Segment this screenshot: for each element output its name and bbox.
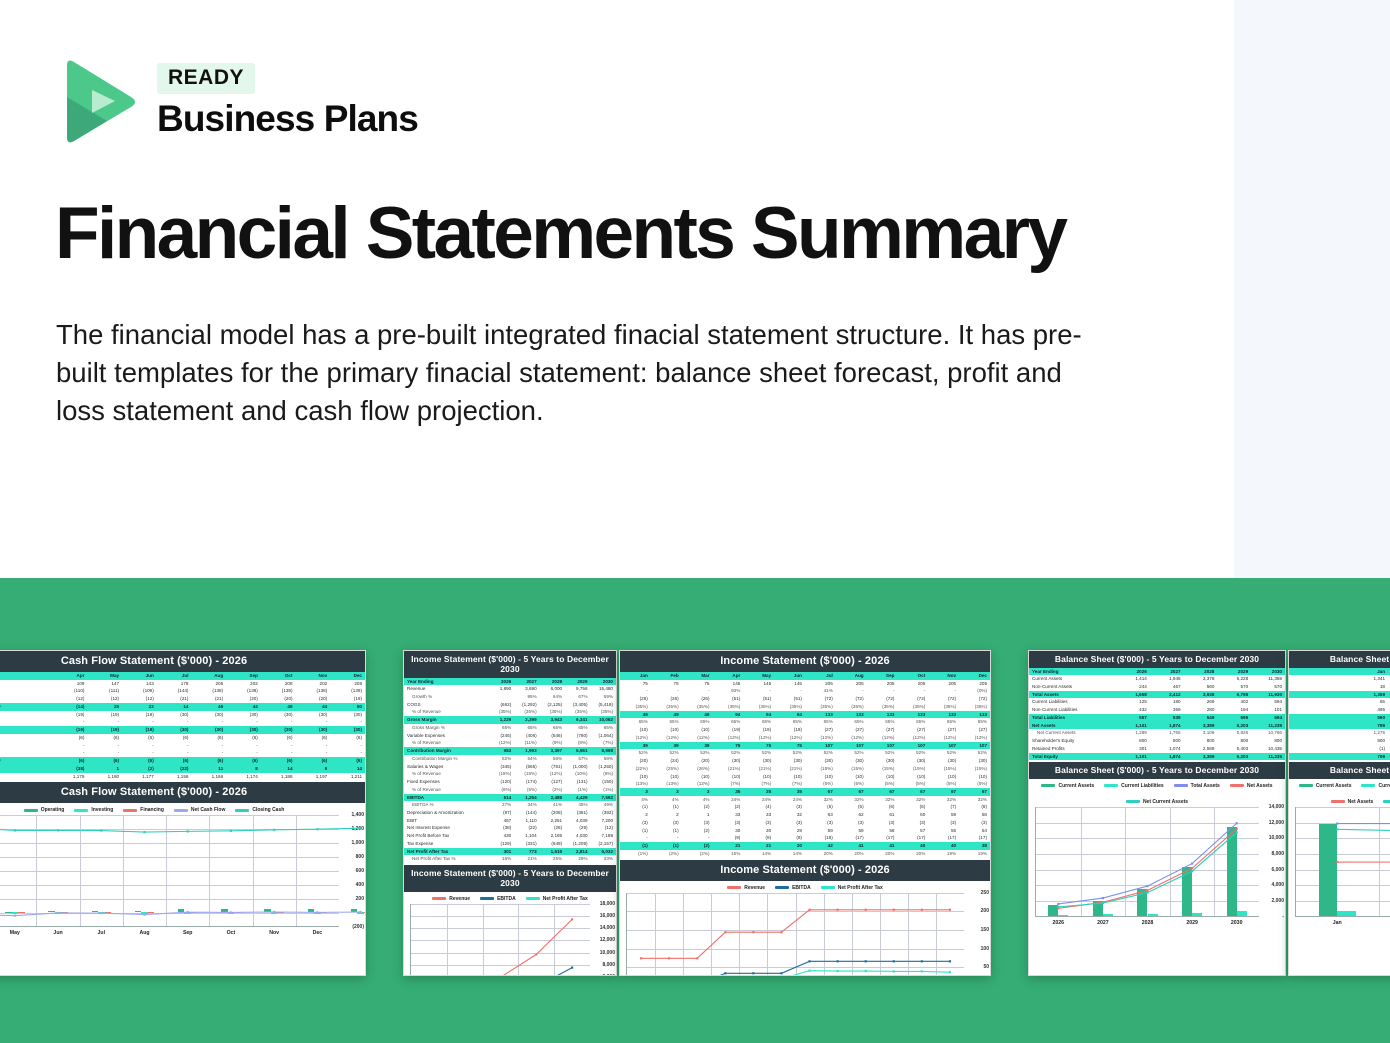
table-cell: - bbox=[330, 742, 365, 750]
table-row: (35%)(35%)(35%)(35%)(35%)(35%)(35%)(35%)… bbox=[620, 703, 990, 711]
table-cell: (3) bbox=[959, 819, 990, 827]
table-cell: 1 bbox=[87, 765, 122, 773]
row-label: Salaries & Wages bbox=[404, 763, 489, 771]
table-cell: 29% bbox=[565, 855, 590, 863]
row-label: Total Equity bbox=[1029, 753, 1116, 761]
table-cell: 44 bbox=[296, 703, 331, 711]
row-label: EBITDA % bbox=[404, 801, 489, 809]
table-cell: 32% bbox=[836, 796, 867, 804]
table-cell: (19) bbox=[743, 726, 774, 734]
col-header: Jun bbox=[122, 672, 157, 680]
legend-item: EBITDA bbox=[775, 885, 811, 891]
table-cell: 39 bbox=[620, 742, 651, 750]
col-header: 2029 bbox=[1217, 668, 1251, 676]
table-cell: (12%) bbox=[774, 734, 805, 742]
table-cell: (15%) bbox=[897, 765, 928, 773]
legend-swatch bbox=[1174, 784, 1188, 787]
row-label: Gross Margin bbox=[404, 716, 489, 724]
table-cell: (406) bbox=[514, 732, 539, 740]
table-cell: 1,179 bbox=[53, 773, 88, 781]
table-cell: 65% bbox=[774, 718, 805, 726]
table-cell: 402 bbox=[1217, 698, 1251, 706]
table-cell: 145 bbox=[743, 680, 774, 688]
table-cell: (127) bbox=[540, 778, 565, 786]
table-cell: (10) bbox=[805, 773, 836, 781]
table-cell: 7,592 bbox=[591, 794, 616, 802]
row-label: Variable Expenses bbox=[404, 732, 489, 740]
table-cell: - bbox=[296, 718, 331, 726]
table-cell: (27) bbox=[836, 726, 867, 734]
chart-series-lines bbox=[1296, 807, 1390, 917]
sheet-title-balance-5yr: Balance Sheet ($'000) - 5 Years to Decem… bbox=[1029, 651, 1285, 668]
table-cell: (20) bbox=[226, 695, 261, 703]
table-cell: 34% bbox=[514, 801, 539, 809]
row-label: EBIT bbox=[404, 817, 489, 825]
table-row: (1%)(2%)(2%)15%14%14%20%20%20%20%19%19% bbox=[620, 850, 990, 858]
table-cell: (35%) bbox=[591, 708, 616, 716]
screenshot-card-balance-5yr[interactable]: Balance Sheet ($'000) - 5 Years to Decem… bbox=[1028, 650, 1286, 976]
table-cell: 107 bbox=[928, 742, 959, 750]
table-cell: 21 bbox=[743, 842, 774, 850]
table-row: 6572 bbox=[1289, 698, 1390, 706]
table-cell: 4% bbox=[682, 796, 713, 804]
table-cell: 2,814 bbox=[565, 848, 590, 856]
table-cell: 205 bbox=[959, 680, 990, 688]
table-cell: (12%) bbox=[620, 734, 651, 742]
sheet-title-income-5yr: Income Statement ($'000) - 5 Years to De… bbox=[404, 651, 616, 678]
table-row: 560561 bbox=[1289, 714, 1390, 722]
table-cell: 27% bbox=[489, 801, 514, 809]
col-header-label: Year Ending bbox=[404, 678, 489, 686]
table-cell: 6,228 bbox=[1217, 675, 1251, 683]
table-cell: 3,389 bbox=[1184, 722, 1218, 730]
table-row: Interest & Tax Paid(12)(12)(12)(21)(21)(… bbox=[0, 695, 365, 703]
table-cell: (15%) bbox=[959, 765, 990, 773]
table-cell: 52% bbox=[743, 749, 774, 757]
table-cell: (12) bbox=[53, 695, 88, 703]
legend-item: Total Assets bbox=[1174, 783, 1220, 789]
table-cell: - bbox=[651, 834, 682, 842]
table-row: % of Revenue(35%)(35%)(35%)(35%)(35%) bbox=[404, 708, 616, 716]
table-cell: 9,756 bbox=[565, 685, 590, 693]
table-cell: (10) bbox=[620, 773, 651, 781]
table-cell: (10) bbox=[620, 726, 651, 734]
row-label: Net Financing Cash Flow bbox=[0, 757, 53, 765]
screenshot-card-cashflow[interactable]: Cash Flow Statement ($'000) - 2026 AprMa… bbox=[0, 650, 366, 976]
table-cell: 145 bbox=[774, 680, 805, 688]
row-label: Sale of Fixed Assets bbox=[0, 718, 53, 726]
table-cell: (35%) bbox=[836, 703, 867, 711]
row-label: Non-Current Liabilities bbox=[1029, 706, 1116, 714]
legend-swatch bbox=[1126, 800, 1140, 803]
table-cell: (35%) bbox=[565, 708, 590, 716]
table-cell: 21% bbox=[514, 855, 539, 863]
table-cell: (138) bbox=[226, 687, 261, 695]
table-row: % of Revenue(8%)(5%)(2%)(1%)(1%) bbox=[404, 786, 616, 794]
table-cell: (3,405) bbox=[565, 701, 590, 709]
row-label: Revenue bbox=[404, 685, 489, 693]
table-cell: (7%) bbox=[774, 780, 805, 788]
legend-item: Current Assets bbox=[1041, 783, 1094, 789]
table-cell: 3,943 bbox=[540, 716, 565, 724]
legend-label: Net Profit After Tax bbox=[838, 885, 883, 891]
table-row: (3)(3)(3)(3)(3)(3)(3)(3)(3)(3)(3)(3) bbox=[620, 819, 990, 827]
row-label: Tax Expense bbox=[404, 840, 489, 848]
table-cell: (150) bbox=[591, 778, 616, 786]
row-label: Net Profit After Tax bbox=[404, 848, 489, 856]
table-cell: 6,000 bbox=[540, 685, 565, 693]
table-row: Retained Profits3011,0742,5895,40310,435 bbox=[1029, 745, 1285, 753]
y-axis-tick-label: 100 bbox=[981, 946, 989, 952]
chart-title-balance-2026: Balance Sheet ($'000) - 2026 bbox=[1289, 762, 1390, 779]
chart-legend: Current AssetsCurrent LiabilitiesTotal A… bbox=[1289, 779, 1390, 807]
table-cell: (30) bbox=[226, 711, 261, 719]
table-cell: (120) bbox=[489, 778, 514, 786]
table-cell: 109 bbox=[53, 680, 88, 688]
table-cell: - bbox=[928, 687, 959, 695]
table-cell: 67 bbox=[959, 788, 990, 796]
y-axis-tick-label: 2,000 bbox=[1271, 898, 1284, 904]
row-label: Closing Cash Balance bbox=[0, 773, 53, 781]
chart-title-income-5yr: Income Statement ($'000) - 5 Years to De… bbox=[404, 865, 616, 892]
legend-item: Current Liabilities bbox=[1361, 783, 1390, 789]
x-axis-tick-label: 2027 bbox=[1097, 920, 1109, 926]
row-label: % of Revenue bbox=[404, 770, 489, 778]
table-cell: 45% bbox=[565, 801, 590, 809]
table-cell: (649) bbox=[540, 840, 565, 848]
row-label: Current Liabilities bbox=[1029, 698, 1116, 706]
table-cell: 65% bbox=[928, 718, 959, 726]
screenshot-card-income-5yr[interactable]: Income Statement ($'000) - 5 Years to De… bbox=[403, 650, 617, 976]
table-cell: (4) bbox=[743, 803, 774, 811]
table-cell: (2) bbox=[712, 803, 743, 811]
row-label: Non-Current Assets bbox=[1029, 683, 1116, 691]
table-cell: 143 bbox=[122, 680, 157, 688]
table-cell: 16% bbox=[489, 855, 514, 863]
col-header: Sep bbox=[867, 672, 898, 680]
legend-label: Total Assets bbox=[1191, 783, 1220, 789]
table-cell: 65% bbox=[651, 718, 682, 726]
table-cell: 46 bbox=[191, 703, 226, 711]
table-cell: (30) bbox=[928, 757, 959, 765]
table-cell: 67 bbox=[836, 788, 867, 796]
table-cell: 514 bbox=[489, 794, 514, 802]
table-cell: 56% bbox=[540, 755, 565, 763]
legend-label: Current Liabilities bbox=[1378, 783, 1390, 789]
legend-label: Revenue bbox=[449, 896, 470, 902]
table-cell: 1,229 bbox=[489, 716, 514, 724]
table-cell: 40 bbox=[928, 842, 959, 850]
table-row: Shareholder's Equity800800800800800 bbox=[1029, 737, 1285, 745]
table-row: 799798 bbox=[1289, 722, 1390, 730]
x-axis-tick-label: Sep bbox=[183, 930, 193, 936]
table-cell: 65% bbox=[565, 724, 590, 732]
table-cell: (35%) bbox=[712, 703, 743, 711]
table-cell: (87) bbox=[489, 809, 514, 817]
legend-swatch bbox=[235, 809, 249, 812]
table-cell: 7,189 bbox=[591, 832, 616, 840]
table-cell: (392) bbox=[591, 809, 616, 817]
table-cell: 2 bbox=[651, 811, 682, 819]
x-axis-tick-label: Nov bbox=[269, 930, 279, 936]
table-cell: 800 bbox=[1150, 737, 1184, 745]
table-cell bbox=[489, 693, 514, 701]
table-cell: - bbox=[743, 687, 774, 695]
table-cell: - bbox=[330, 718, 365, 726]
table-cell: (10) bbox=[774, 773, 805, 781]
table-cell: 52% bbox=[774, 749, 805, 757]
table-cell: 32% bbox=[805, 796, 836, 804]
table-cell: (27) bbox=[959, 726, 990, 734]
table-cell: 205 bbox=[867, 680, 898, 688]
table-cell: 49 bbox=[682, 711, 713, 719]
table-cell: 14% bbox=[743, 850, 774, 858]
table-cell: (17) bbox=[928, 834, 959, 842]
table-cell: (21%) bbox=[743, 765, 774, 773]
legend-item: Net Current Assets bbox=[1126, 799, 1188, 805]
table-cell: (139) bbox=[330, 687, 365, 695]
table-row: Gross Margin %65%65%65%65%65% bbox=[404, 724, 616, 732]
col-header: 2029 bbox=[565, 678, 590, 686]
table-cell: (10) bbox=[682, 726, 713, 734]
x-axis-tick-label: May bbox=[10, 930, 20, 936]
table-row: Fixed Expenses(120)(174)(127)(131)(150) bbox=[404, 778, 616, 786]
row-label: Gross Margin % bbox=[404, 724, 489, 732]
table-cell: - bbox=[330, 749, 365, 757]
table-cell: - bbox=[157, 749, 192, 757]
table-cell: 1,104 bbox=[514, 832, 539, 840]
table-cell: (30) bbox=[836, 757, 867, 765]
table-cell: 202 bbox=[296, 680, 331, 688]
table-row: 757575145145145205205205205205205 bbox=[620, 680, 990, 688]
chart-legend: RevenueEBITDANet Profit After Tax bbox=[620, 881, 990, 893]
table-row: 65%65%65%65%65%65%65%65%65%65%65%65% bbox=[620, 718, 990, 726]
table-row: Receipts from Customers10914714317820520… bbox=[0, 680, 365, 688]
chart-income-2026: RevenueEBITDANet Profit After Tax2502001… bbox=[620, 881, 990, 976]
row-label: Dividends Paid bbox=[0, 749, 53, 757]
table-cell: (30) bbox=[805, 757, 836, 765]
y-axis-tick-label: - bbox=[1282, 914, 1284, 920]
table-cell: (138) bbox=[296, 687, 331, 695]
table-cell: 50 bbox=[330, 703, 365, 711]
table-row: 52%52%52%52%52%52%52%52%52%52%52%52% bbox=[620, 749, 990, 757]
table-cell: (29) bbox=[565, 824, 590, 832]
table-cell: 58% bbox=[591, 755, 616, 763]
table-row: Total Equity1,1011,8743,3896,20311,235 bbox=[1029, 753, 1285, 761]
table-cell: (110) bbox=[53, 687, 88, 695]
table-cell: (6) bbox=[191, 757, 226, 765]
table-cell: (1%) bbox=[591, 786, 616, 794]
table-row: (22%)(25%)(26%)(21%)(21%)(21%)(15%)(15%)… bbox=[620, 765, 990, 773]
table-row: Net Interest Expense(38)(22)(26)(29)(12) bbox=[404, 824, 616, 832]
table-cell: 15,480 bbox=[591, 685, 616, 693]
table-cell: (19) bbox=[122, 726, 157, 734]
table-row: Net Profit After Tax3017731,5152,8145,03… bbox=[404, 848, 616, 856]
table-cell: (30) bbox=[867, 757, 898, 765]
table-cell: 208 bbox=[261, 680, 296, 688]
table-cell: 2 bbox=[620, 811, 651, 819]
table-cell: (6) bbox=[191, 734, 226, 742]
table-cell: (72) bbox=[959, 695, 990, 703]
table-row: Net Assets1,1011,8743,3896,20311,235 bbox=[1029, 722, 1285, 730]
table-cell: - bbox=[261, 718, 296, 726]
table-row: EBIT4671,1102,2514,0397,200 bbox=[404, 817, 616, 825]
table-row: Purchase of Fixed Assets(19)(19)(19)(30)… bbox=[0, 711, 365, 719]
legend-swatch bbox=[74, 809, 88, 812]
table-cell: - bbox=[296, 749, 331, 757]
col-header: Oct bbox=[261, 672, 296, 680]
legend-swatch bbox=[123, 809, 137, 812]
table-row: Revenue1,8903,6906,0009,75615,480 bbox=[404, 685, 616, 693]
table-cell: (144) bbox=[514, 809, 539, 817]
table-row: Non-Current Liabilities432359280194101 bbox=[1029, 706, 1285, 714]
table-cell: 33% bbox=[591, 855, 616, 863]
screenshot-card-income-2026[interactable]: Income Statement ($'000) - 2026 JanFebMa… bbox=[619, 650, 991, 976]
table-cell: 25% bbox=[540, 855, 565, 863]
table-cell: (12%) bbox=[682, 734, 713, 742]
table-cell: 3,108 bbox=[1184, 729, 1218, 737]
legend-label: Net Assets bbox=[1348, 799, 1374, 805]
table-cell: (662) bbox=[489, 701, 514, 709]
chart-title-balance-5yr: Balance Sheet ($'000) - 5 Years to Decem… bbox=[1029, 762, 1285, 779]
table-cell: - bbox=[226, 749, 261, 757]
legend-swatch bbox=[1383, 800, 1390, 803]
x-axis-tick-label: Jun bbox=[53, 930, 62, 936]
table-cell: (12%) bbox=[928, 734, 959, 742]
table-cell: (12%) bbox=[712, 734, 743, 742]
table-cell: (1) bbox=[620, 803, 651, 811]
table-cell: (35%) bbox=[651, 703, 682, 711]
table-cell: 19% bbox=[928, 850, 959, 858]
y-axis-tick-label: 1,400 bbox=[351, 812, 364, 818]
row-label: Fixed Expenses bbox=[404, 778, 489, 786]
table-cell: 52% bbox=[928, 749, 959, 757]
table-cell: 133 bbox=[867, 711, 898, 719]
table-cell: (35%) bbox=[867, 703, 898, 711]
table-cell: (10) bbox=[867, 773, 898, 781]
y-axis-tick-label: 250 bbox=[981, 890, 989, 896]
table-cell: (6) bbox=[261, 757, 296, 765]
row-label: Net Investing Cash Flow bbox=[0, 726, 53, 734]
table-cell: (6) bbox=[226, 734, 261, 742]
chart-balance-2026: Current AssetsCurrent LiabilitiesTotal A… bbox=[1289, 779, 1390, 917]
col-header: Nov bbox=[928, 672, 959, 680]
row-label: Loan Repayments bbox=[0, 734, 53, 742]
table-cell: 75 bbox=[651, 680, 682, 688]
table-cell: 205 bbox=[928, 680, 959, 688]
legend-item: EBITDA bbox=[480, 896, 516, 902]
table-cell: 15% bbox=[712, 850, 743, 858]
table-cell: 1,874 bbox=[1150, 722, 1184, 730]
table-cell: 800 bbox=[1184, 737, 1218, 745]
chart-series-lines bbox=[627, 893, 964, 976]
table-cell: 560 bbox=[1289, 714, 1388, 722]
table-cell: (6) bbox=[296, 757, 331, 765]
table-cell: 280 bbox=[1184, 706, 1218, 714]
table-cell: (8%) bbox=[489, 786, 514, 794]
y-axis-tick-label: 1,000 bbox=[351, 840, 364, 846]
col-header: Dec bbox=[959, 672, 990, 680]
table-cell: 694 bbox=[1251, 714, 1285, 722]
table-cell: 67 bbox=[897, 788, 928, 796]
sheet-title-balance-2026: Balance Sheet ($'000) - 2026 bbox=[1289, 651, 1390, 668]
table-cell: 35 bbox=[743, 788, 774, 796]
table-cell: 180 bbox=[1150, 698, 1184, 706]
table-cell: 24% bbox=[743, 796, 774, 804]
legend-item: Current Liabilities bbox=[1104, 783, 1164, 789]
y-axis-tick-label: 50 bbox=[983, 964, 989, 970]
brand-name: Business Plans bbox=[157, 98, 418, 140]
table-cell: (10) bbox=[651, 773, 682, 781]
table-row: (13%)(13%)(13%)(7%)(7%)(7%)(5%)(5%)(5%)(… bbox=[620, 780, 990, 788]
table-cell: - bbox=[836, 687, 867, 695]
table-cell: (30) bbox=[296, 726, 331, 734]
table-cell: (10) bbox=[712, 773, 743, 781]
table-cell: (111) bbox=[87, 687, 122, 695]
table-cell: - bbox=[261, 742, 296, 750]
table-cell: - bbox=[620, 687, 651, 695]
table-cell: 65% bbox=[897, 718, 928, 726]
legend-item: Net Assets bbox=[1230, 783, 1273, 789]
table-cell: (565) bbox=[514, 763, 539, 771]
table-cell: 11,235 bbox=[1251, 753, 1285, 761]
chart-series-lines bbox=[0, 815, 339, 927]
y-axis-tick-label: 14,000 bbox=[1269, 804, 1284, 810]
table-cell: 93% bbox=[712, 687, 743, 695]
row-label: EBITDA bbox=[404, 794, 489, 802]
table-income-5yr: Year Ending20262027202820292030Revenue1,… bbox=[404, 678, 616, 864]
screenshot-card-balance-2026[interactable]: Balance Sheet ($'000) - 2026 JanFeb1,341… bbox=[1288, 650, 1390, 976]
table-cell: 3 bbox=[620, 788, 651, 796]
table-cell: - bbox=[87, 742, 122, 750]
chart-title-income-2026: Income Statement ($'000) - 2026 bbox=[620, 860, 990, 881]
table-cell: 18 bbox=[1289, 683, 1388, 691]
table-cell: (24) bbox=[651, 757, 682, 765]
chart-series-lines bbox=[411, 904, 590, 976]
table-cell: 107 bbox=[959, 742, 990, 750]
table-cell: 147 bbox=[87, 680, 122, 688]
row-label: % of Revenue bbox=[404, 708, 489, 716]
table-cell: (1%) bbox=[565, 786, 590, 794]
table-cell: (9%) bbox=[540, 739, 565, 747]
y-axis-tick-label: 1,200 bbox=[351, 826, 364, 832]
table-cell: - bbox=[774, 687, 805, 695]
table-cell: 5,561 bbox=[565, 747, 590, 755]
table-cell: (5%) bbox=[514, 786, 539, 794]
table-cell: 19% bbox=[959, 850, 990, 858]
table-cell: (174) bbox=[514, 778, 539, 786]
table-cell: 194 bbox=[1217, 706, 1251, 714]
table-cell: (139) bbox=[261, 687, 296, 695]
y-axis-tick-label: 8,000 bbox=[602, 962, 615, 968]
legend-label: Current Assets bbox=[1058, 783, 1094, 789]
table-cell: (35%) bbox=[514, 708, 539, 716]
table-cell: (3) bbox=[712, 819, 743, 827]
table-cell: 495 bbox=[1289, 706, 1388, 714]
legend-item: Operating bbox=[24, 807, 65, 813]
legend-item: Net Cash Flow bbox=[174, 807, 225, 813]
chart-plot-area: 14,00012,00010,0008,0006,0004,0002,000-2… bbox=[1035, 807, 1259, 917]
table-cell: 1,174 bbox=[226, 773, 261, 781]
hero-section: READY Business Plans Financial Statement… bbox=[0, 0, 1390, 578]
table-cell: 205 bbox=[897, 680, 928, 688]
table-cell: - bbox=[53, 742, 88, 750]
table-cell: 33 bbox=[712, 811, 743, 819]
chart-plot-area: 14,00012,00010,0008,0006,0004,0002,000-J… bbox=[1295, 807, 1390, 917]
table-cell: (12%) bbox=[651, 734, 682, 742]
table-row: COGS(662)(1,292)(2,125)(3,405)(5,418) bbox=[404, 701, 616, 709]
table-cell: 539 bbox=[1150, 714, 1184, 722]
